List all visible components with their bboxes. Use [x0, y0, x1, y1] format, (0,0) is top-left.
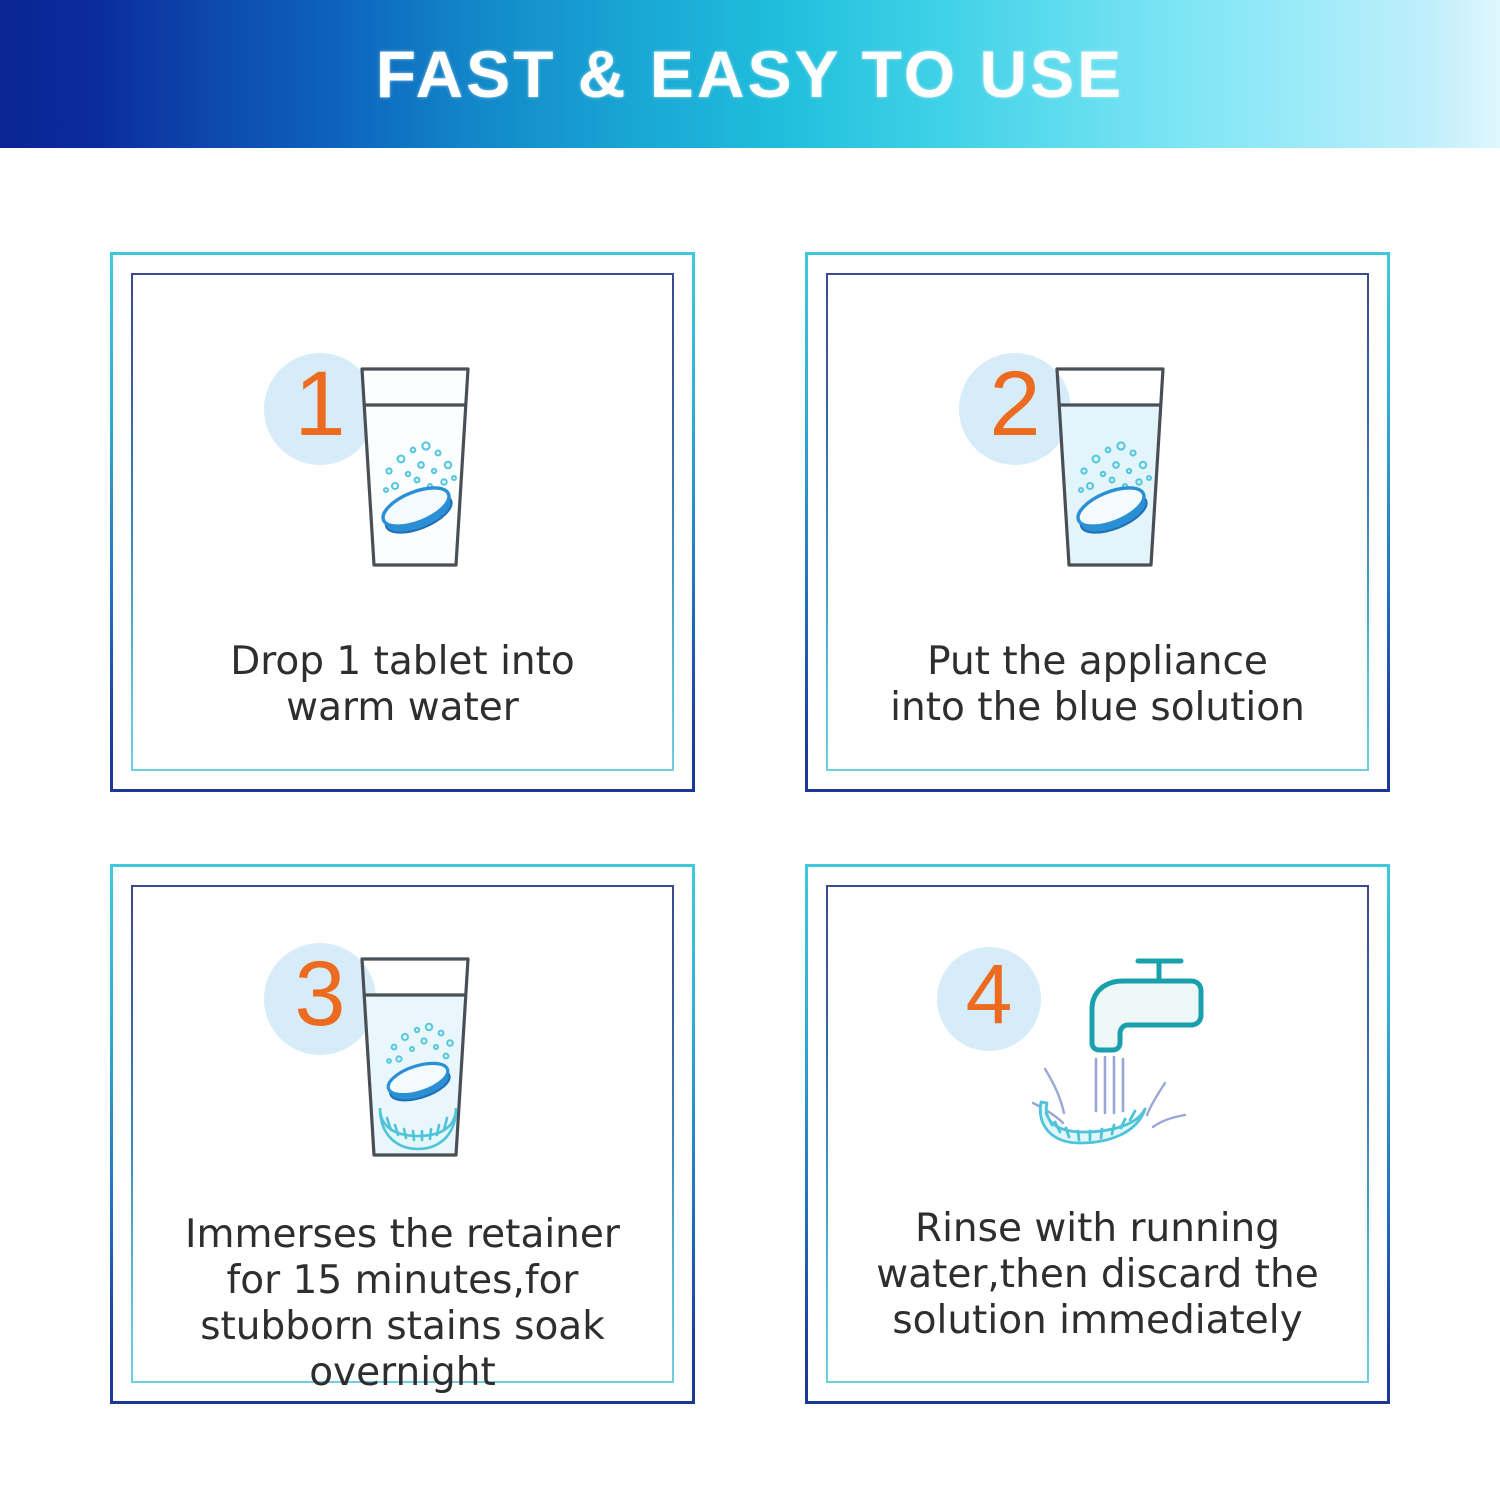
- faucet-icon: [1092, 961, 1201, 1050]
- retainer-icon: [1040, 1102, 1145, 1143]
- card-content: 1: [133, 275, 672, 769]
- step-1-caption: Drop 1 tablet into warm water: [171, 639, 635, 731]
- step-card-1: 1: [110, 252, 695, 792]
- card-inner-frame: 2: [826, 273, 1369, 771]
- step-number-2: 2: [989, 353, 1040, 455]
- splash-arcs: [1033, 1069, 1185, 1127]
- glass-blue-solution-icon: 2: [953, 347, 1243, 577]
- instruction-infographic: FAST & EASY TO USE 1: [0, 0, 1500, 1500]
- card-outer-gap: 3: [113, 867, 692, 1401]
- step-number-4: 4: [965, 947, 1012, 1041]
- glass-with-retainer-icon: 3: [258, 937, 548, 1172]
- step-4-illustration: 4: [828, 943, 1367, 1148]
- solution-fill: [1059, 405, 1160, 565]
- header-banner: FAST & EASY TO USE: [0, 0, 1500, 148]
- card-content: 3: [133, 887, 672, 1381]
- card-inner-frame: 4: [826, 885, 1369, 1383]
- card-inner-frame: 1: [131, 273, 674, 771]
- card-inner-frame: 3: [131, 885, 674, 1383]
- steps-grid: 1: [110, 252, 1390, 1412]
- step-2-caption: Put the appliance into the blue solution: [866, 639, 1330, 731]
- card-outer-gap: 4: [808, 867, 1387, 1401]
- step-1-illustration: 1: [133, 347, 672, 577]
- step-4-caption: Rinse with running water,then discard th…: [866, 1206, 1330, 1344]
- step-2-illustration: 2: [828, 347, 1367, 577]
- water-stream: [1096, 1057, 1123, 1113]
- step-card-2: 2: [805, 252, 1390, 792]
- card-content: 4: [828, 887, 1367, 1381]
- glass-with-tablet-icon: 1: [258, 347, 548, 577]
- card-outer-gap: 2: [808, 255, 1387, 789]
- page-title: FAST & EASY TO USE: [0, 0, 1500, 148]
- card-outer-gap: 1: [113, 255, 692, 789]
- faucet-rinse-icon: 4: [933, 943, 1263, 1148]
- step-card-4: 4: [805, 864, 1390, 1404]
- step-3-illustration: 3: [133, 937, 672, 1172]
- glass-outline: [362, 369, 468, 565]
- card-content: 2: [828, 275, 1367, 769]
- step-number-3: 3: [294, 943, 345, 1045]
- step-card-3: 3: [110, 864, 695, 1404]
- step-number-1: 1: [294, 353, 345, 455]
- step-3-caption: Immerses the retainer for 15 minutes,for…: [171, 1212, 635, 1396]
